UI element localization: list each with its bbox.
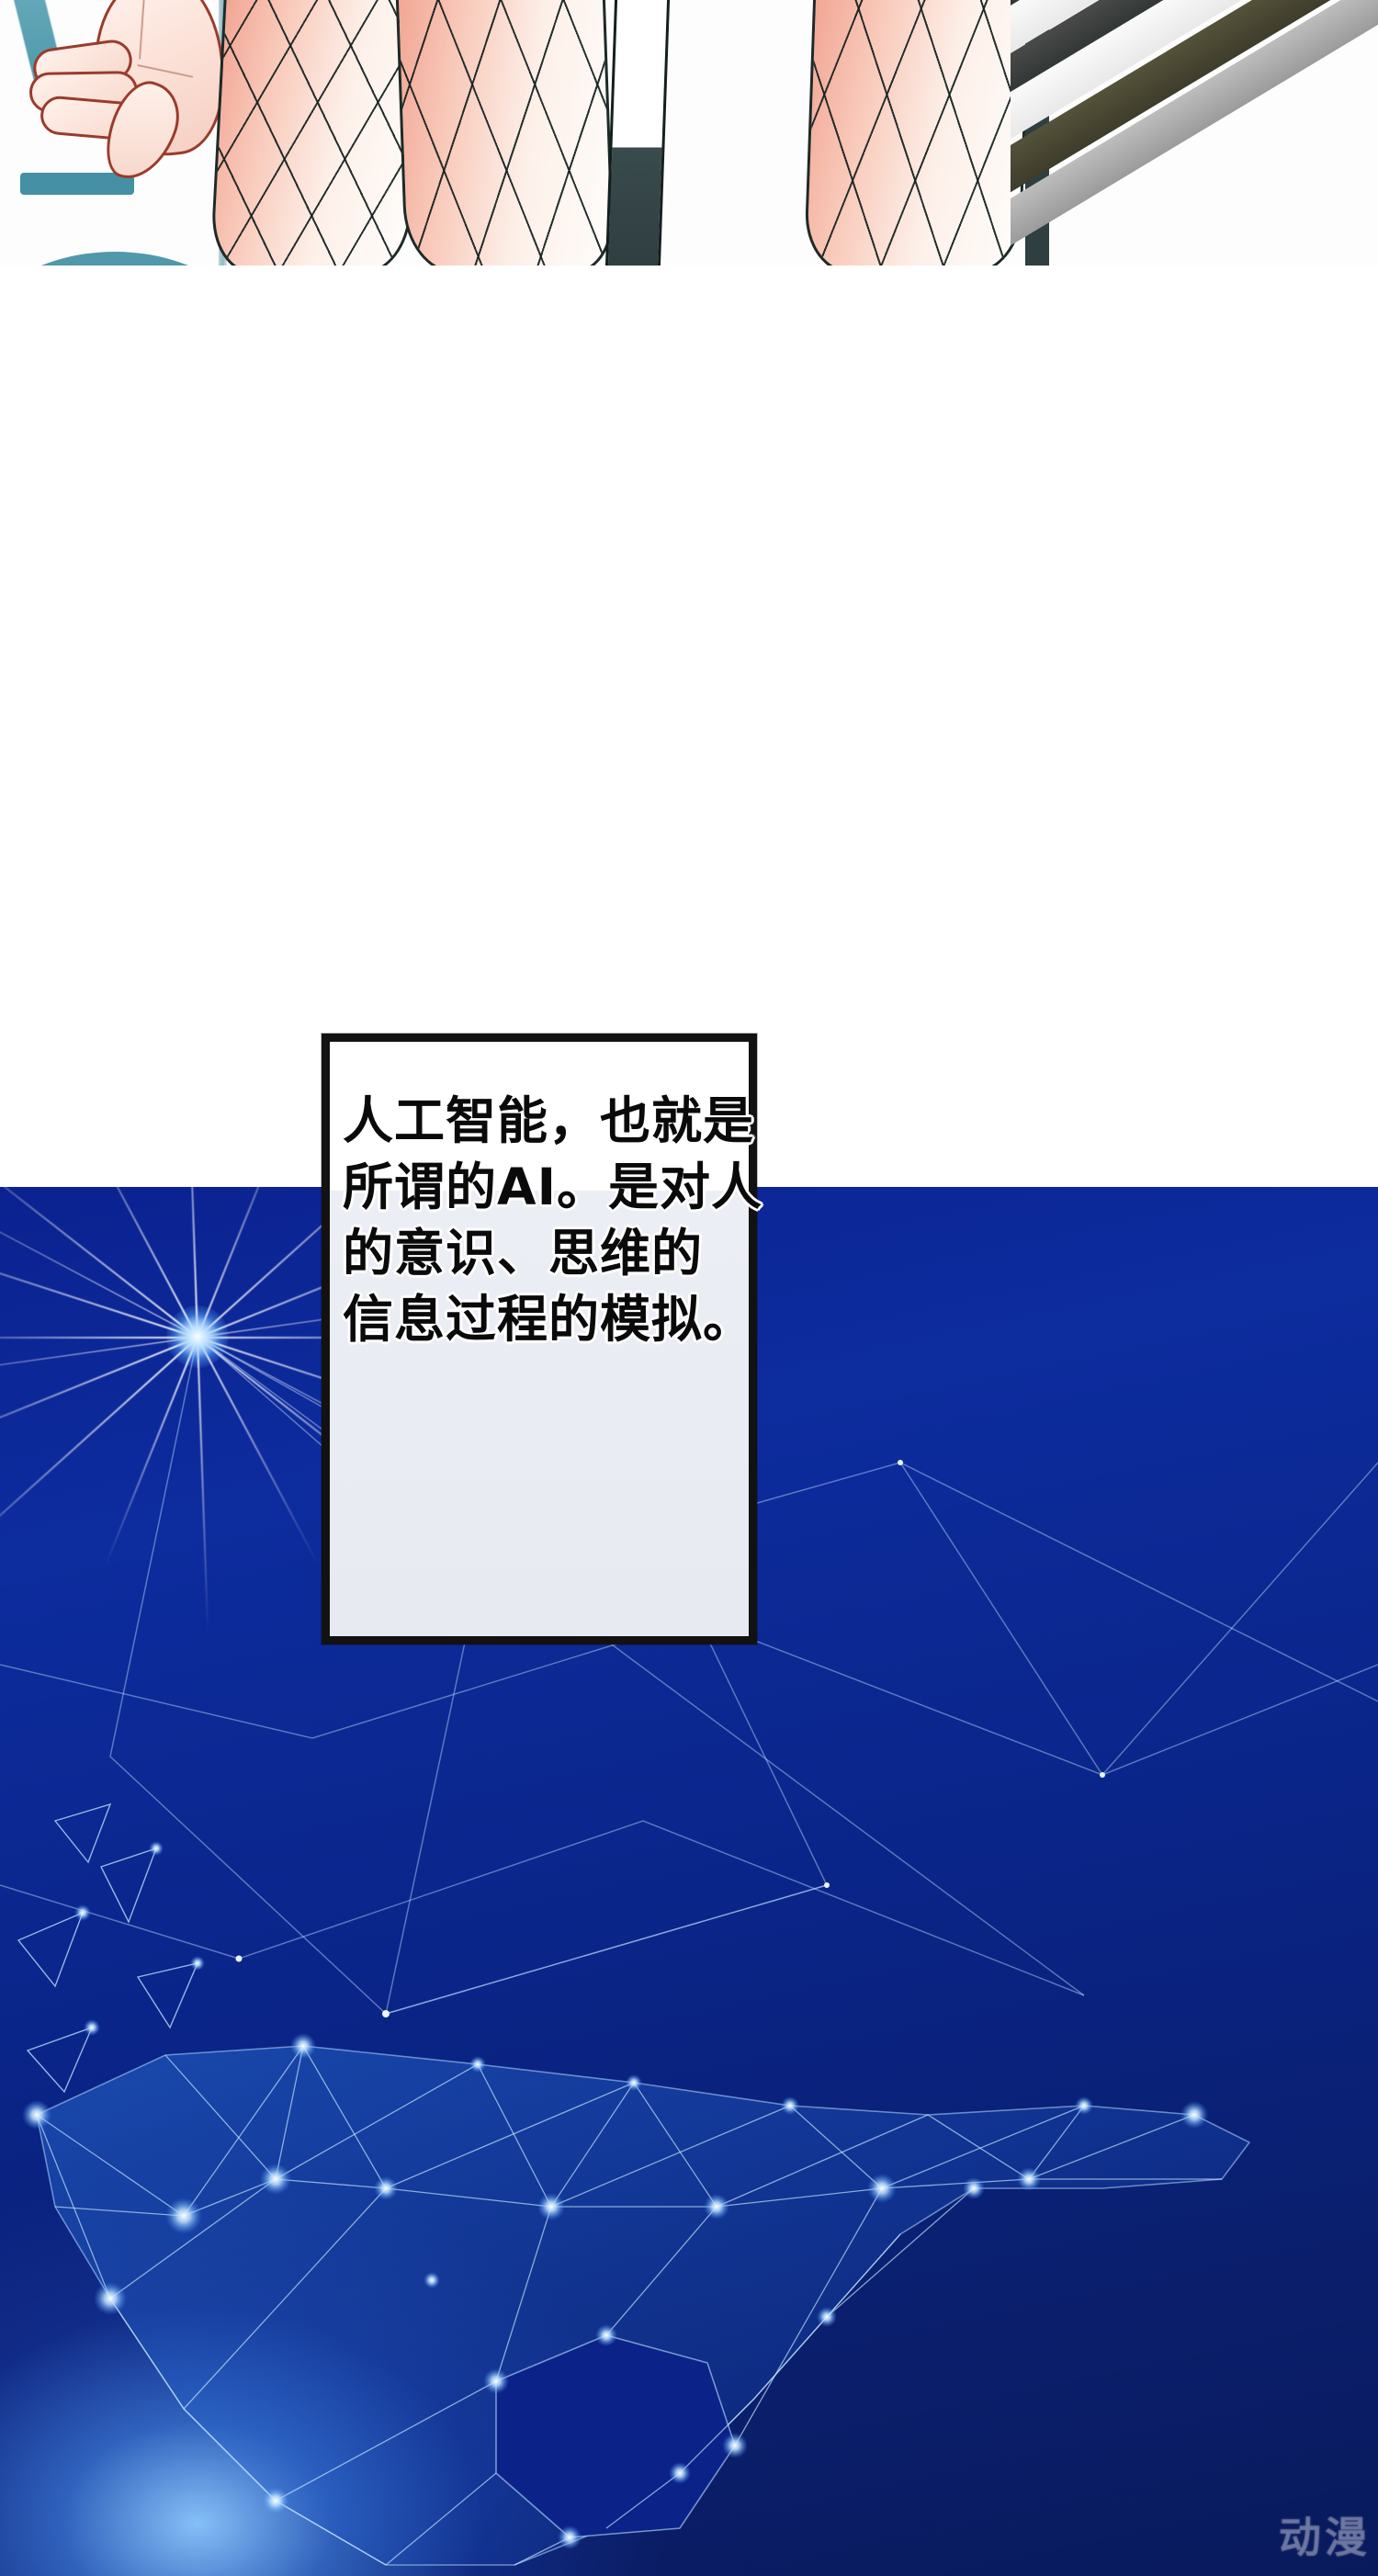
- dialogue-text-block: 人工智能，也就是 所谓的AI。是对人 的意识、思维的 信息过程的模拟。: [330, 1088, 749, 1352]
- dialogue-line-3: 的意识、思维的: [343, 1220, 736, 1286]
- dialogue-bubble: 人工智能，也就是 所谓的AI。是对人 的意识、思维的 信息过程的模拟。: [322, 1034, 757, 1644]
- dialogue-line-4: 信息过程的模拟。: [343, 1286, 736, 1352]
- panel-stairs-and-legs: [0, 0, 1378, 266]
- leg-fishnet-middle: [396, 0, 616, 266]
- dialogue-line-2: 所谓的AI。是对人: [343, 1154, 736, 1220]
- fishnet-pattern: [396, 0, 616, 266]
- leg-fishnet-left: [209, 0, 423, 266]
- comic-page: 动漫 人工智能，也就是 所谓的AI。是对人 的意识、思维的 信息过程的模拟。: [0, 0, 1378, 2576]
- floating-fragments: [18, 1804, 198, 2092]
- fishnet-pattern: [209, 0, 423, 266]
- dialogue-line-1: 人工智能，也就是: [343, 1088, 736, 1154]
- fishnet-pattern: [804, 0, 1031, 266]
- leg-gap-shadow: [605, 0, 671, 266]
- palm-crease: [139, 0, 145, 60]
- leg-fishnet-right: [804, 0, 1031, 266]
- palm-crease-2: [137, 64, 193, 78]
- hand-illustration: [7, 0, 237, 193]
- staircase-structure: [1011, 0, 1378, 266]
- site-watermark: 动漫: [1279, 2504, 1371, 2565]
